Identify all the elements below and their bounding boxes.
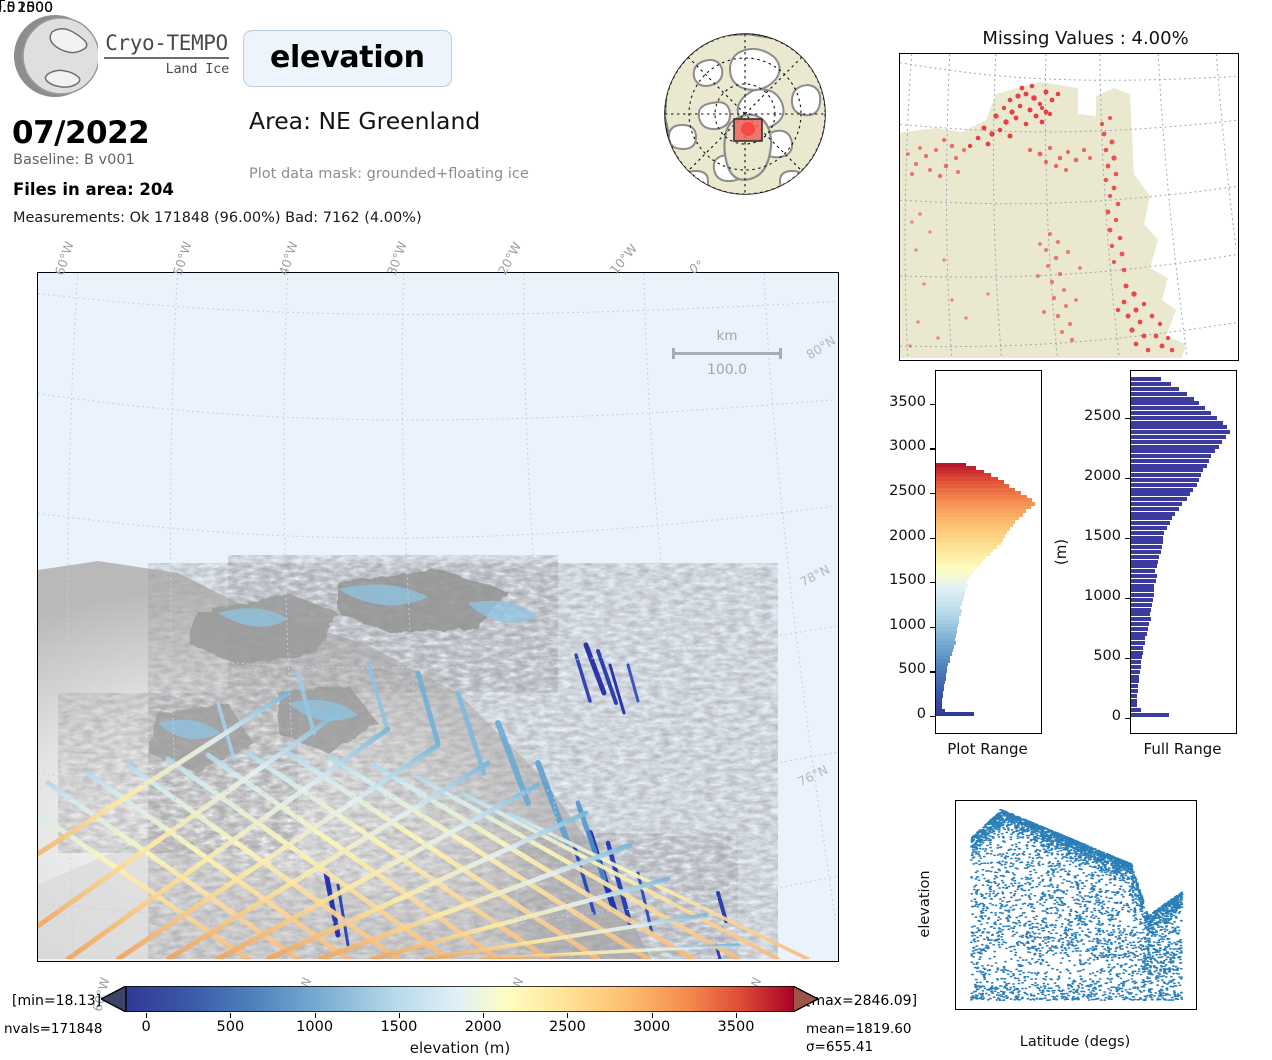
histogram-ytick [1125, 658, 1130, 659]
histogram-bar [1131, 512, 1175, 516]
histogram-bar [936, 555, 986, 559]
scatter-xtick-label: 82.5 [0, 0, 16, 16]
histogram-bar [936, 609, 962, 613]
histogram-bar [1131, 675, 1139, 679]
histogram-bar [936, 495, 1027, 499]
colorbar-tick-marks: 0500100015002000250030003500 [125, 1013, 795, 1033]
colorbar-mean-label: mean=1819.60 [806, 1021, 911, 1037]
histogram-bar [1131, 646, 1143, 650]
histogram-bar [1131, 545, 1162, 549]
brand-wordmark: Cryo-TEMPO Land Ice [104, 32, 229, 77]
histogram-bar [1131, 699, 1137, 703]
histogram-bar [1131, 445, 1219, 449]
histogram-bar [936, 595, 964, 599]
histogram-bar [1131, 473, 1201, 477]
histogram-bar [1131, 612, 1150, 616]
histogram-bar [1131, 468, 1203, 472]
histogram-bar [1131, 421, 1223, 425]
histogram-bar [936, 637, 955, 641]
histogram-ytick-label: 2000 [1060, 468, 1121, 484]
files-in-area-label: Files in area: 204 [13, 180, 174, 199]
colorbar-tick-label: 2000 [465, 1019, 502, 1035]
colorbar-tick [146, 1013, 147, 1018]
histogram-bar [936, 684, 944, 688]
histogram-bar [936, 694, 943, 698]
histogram-bar [1131, 694, 1137, 698]
histogram-bar [1131, 502, 1182, 506]
elevation-colorbar[interactable]: [min=18.13] [max=2846.09] nvals=171848 m… [0, 983, 920, 1060]
histogram-bar [1131, 670, 1140, 674]
baseline-label: Baseline: B v001 [13, 152, 135, 168]
histogram-ytick [1125, 538, 1130, 539]
histogram-ytick [930, 582, 935, 583]
colorbar-tick [652, 1013, 653, 1018]
colorbar-min-arrow [101, 986, 127, 1016]
histogram-bar [936, 620, 959, 624]
full-range-histogram-panel: Full Range (m) 05001000150020002500 [1060, 368, 1255, 768]
colorbar-tick [230, 1013, 231, 1018]
brand-logo-block: Cryo-TEMPO Land Ice [12, 8, 227, 104]
histogram-bar [1131, 655, 1142, 659]
histogram-bar [936, 591, 965, 595]
histogram-bar [936, 702, 942, 706]
histogram-bar [936, 559, 983, 563]
histogram-bar [1131, 593, 1154, 597]
histogram-bar [1131, 617, 1151, 621]
histogram-ytick-label: 1000 [880, 617, 926, 633]
histogram-ytick-label: 500 [880, 661, 926, 677]
histogram-ytick [1125, 418, 1130, 419]
histogram-ytick [1125, 718, 1130, 719]
histogram-bar [1131, 555, 1159, 559]
histogram-bar [1131, 401, 1199, 405]
histogram-bar [1131, 608, 1151, 612]
histogram-bar [1131, 435, 1226, 439]
histogram-bar [936, 473, 991, 477]
colorbar-tick-label: 3000 [633, 1019, 670, 1035]
histogram-bar [936, 566, 977, 570]
histogram-bar [936, 623, 958, 627]
histogram-bar [936, 516, 1019, 520]
colorbar-tick [315, 1013, 316, 1018]
histogram-ytick [930, 671, 935, 672]
histogram-bar [936, 612, 961, 616]
histogram-bar [936, 602, 962, 606]
histogram-bar [936, 616, 959, 620]
histogram-bar [936, 520, 1015, 524]
colorbar-tick-label: 2500 [549, 1019, 586, 1035]
colorbar-axis-label: elevation (m) [125, 1039, 795, 1057]
histogram-bar [936, 480, 1004, 484]
histogram-bar [936, 538, 1003, 542]
histogram-bar [936, 659, 950, 663]
histogram-bar [1131, 449, 1215, 453]
histogram-bar [936, 545, 997, 549]
histogram-bar [936, 484, 1009, 488]
histogram-bar [936, 598, 963, 602]
histogram-bar [936, 477, 998, 481]
histogram-bar [936, 634, 956, 638]
histogram-ytick-label: 1500 [880, 572, 926, 588]
histogram-ytick [1125, 478, 1130, 479]
histogram-bar [1131, 684, 1138, 688]
colorbar-tick-label: 1500 [380, 1019, 417, 1035]
histogram-bar [1131, 584, 1154, 588]
histogram-ytick-label: 2500 [880, 483, 926, 499]
histogram-bar [936, 505, 1031, 509]
histogram-bar [936, 627, 957, 631]
histogram-bar [1131, 627, 1148, 631]
histogram-bar [1131, 651, 1143, 655]
histogram-bar [936, 498, 1032, 502]
histogram-bar [1131, 516, 1172, 520]
histogram-bar [1131, 488, 1193, 492]
cryo-tempo-globe-icon [12, 12, 98, 100]
histogram-ytick [930, 538, 935, 539]
histogram-bar [936, 698, 942, 702]
histogram-ytick-label: 2000 [880, 528, 926, 544]
colorbar-tick [567, 1013, 568, 1018]
histogram-bar [1131, 387, 1179, 391]
colorbar-tick-label: 0 [141, 1019, 150, 1035]
histogram-bar [1131, 416, 1217, 420]
histogram-bar [936, 541, 1001, 545]
brand-name: Cryo-TEMPO [104, 32, 229, 54]
histogram-bar [1131, 507, 1179, 511]
histogram-bar [936, 502, 1035, 506]
histogram-ytick-label: 3000 [880, 438, 926, 454]
histogram-bar [1131, 411, 1211, 415]
colorbar-max-arrow [793, 986, 819, 1016]
histogram-bar [1131, 464, 1207, 468]
scalebar-rule [672, 348, 782, 358]
scalebar-value-label: 100.0 [672, 362, 782, 378]
histogram-bar [936, 580, 967, 584]
plot-range-histogram-panel: Plot Range 0500100015002000250030003500 [880, 368, 1060, 768]
histogram-ytick [930, 404, 935, 405]
histogram-bar [936, 587, 966, 591]
histogram-ytick [930, 448, 935, 449]
brand-subtitle: Land Ice [104, 61, 229, 77]
histogram-bar [1131, 665, 1141, 669]
histogram-bar [1131, 526, 1167, 530]
brand-divider [104, 57, 229, 59]
histogram-bar [1131, 560, 1158, 564]
full-range-caption: Full Range [1115, 740, 1250, 758]
histogram-bar [936, 680, 945, 684]
measurements-label: Measurements: Ok 171848 (96.00%) Bad: 71… [13, 210, 422, 226]
arctic-locator-map [652, 25, 838, 207]
histogram-bar [936, 552, 991, 556]
histogram-bar [936, 470, 984, 474]
scatter-canvas [956, 801, 1196, 1009]
histogram-bar [1131, 377, 1161, 381]
histogram-bar [1131, 636, 1145, 640]
histogram-bar [936, 677, 946, 681]
histogram-ytick [1125, 598, 1130, 599]
histogram-bar [936, 509, 1026, 513]
histogram-bar [1131, 679, 1139, 683]
histogram-bar [936, 513, 1023, 517]
histogram-bar [936, 669, 947, 673]
histogram-bar [936, 712, 974, 716]
histogram-bar [936, 466, 976, 470]
histogram-bar [1131, 579, 1156, 583]
histogram-bar [1131, 425, 1227, 429]
histogram-bar [936, 530, 1007, 534]
histogram-bar [1131, 598, 1153, 602]
histogram-bar [1131, 459, 1209, 463]
histogram-bar [936, 687, 944, 691]
histogram-bar [936, 641, 956, 645]
histogram-bar [1131, 603, 1152, 607]
histogram-bar [1131, 454, 1211, 458]
histogram-bar [1131, 406, 1205, 410]
histogram-bar [936, 605, 960, 609]
histogram-bar [1131, 574, 1157, 578]
colorbar-tick-label: 1000 [296, 1019, 333, 1035]
histogram-bar [1131, 703, 1137, 707]
colorbar-nvals-label: nvals=171848 [4, 1021, 102, 1037]
histogram-ytick-label: 1000 [1060, 588, 1121, 604]
date-label: 07/2022 [12, 115, 149, 151]
histogram-bar [936, 570, 974, 574]
colorbar-tick [399, 1013, 400, 1018]
histogram-bar [936, 705, 942, 709]
histogram-bar [1131, 588, 1154, 592]
histogram-bar [1131, 689, 1138, 693]
histogram-bar [936, 709, 945, 713]
colorbar-sigma-label: σ=655.41 [806, 1039, 873, 1055]
histogram-bar [1131, 492, 1190, 496]
colorbar-tick-label: 500 [217, 1019, 245, 1035]
histogram-bar [1131, 397, 1194, 401]
variable-title-badge: elevation [243, 30, 452, 87]
histogram-bar [936, 652, 952, 656]
map-scalebar: km 100.0 [672, 328, 782, 378]
histogram-bar [1131, 713, 1169, 717]
histogram-bar [936, 655, 950, 659]
colorbar-tick-label: 3500 [718, 1019, 755, 1035]
histogram-bar [1131, 540, 1163, 544]
histogram-bar [1131, 641, 1145, 645]
missing-values-map [899, 53, 1239, 361]
histogram-bar [1131, 497, 1187, 501]
variable-title-text: elevation [270, 40, 425, 75]
scalebar-unit-label: km [672, 328, 782, 344]
scatter-ylabel: elevation [917, 834, 933, 974]
histogram-bar [1131, 478, 1199, 482]
histogram-bar [936, 666, 947, 670]
histogram-bar [936, 523, 1013, 527]
histogram-bar [1131, 536, 1163, 540]
histogram-bar [936, 584, 968, 588]
histogram-ytick-label: 0 [880, 706, 926, 722]
histogram-bar [1131, 622, 1149, 626]
histogram-bar [1131, 430, 1230, 434]
histogram-bar [936, 645, 954, 649]
histogram-ytick-label: 0 [1060, 708, 1121, 724]
scatter-xlabel: Latitude (degs) [955, 1034, 1195, 1050]
colorbar-tick [736, 1013, 737, 1018]
histogram-ytick-label: 500 [1060, 648, 1121, 664]
histogram-bar [936, 577, 969, 581]
histogram-bar [1131, 521, 1170, 525]
plot-data-mask-label: Plot data mask: grounded+floating ice [249, 166, 529, 182]
histogram-bar [1131, 483, 1197, 487]
histogram-bar [1131, 382, 1171, 386]
histogram-bar [1131, 660, 1141, 664]
histogram-bar [936, 527, 1010, 531]
plot-range-histogram-plot[interactable] [935, 370, 1042, 734]
histogram-ytick-label: 1500 [1060, 528, 1121, 544]
colorbar-min-label: [min=18.13] [12, 993, 101, 1009]
histogram-ytick-label: 3500 [880, 394, 926, 410]
histogram-bar [936, 648, 953, 652]
histogram-bar [1131, 632, 1147, 636]
histogram-ytick [930, 493, 935, 494]
histogram-bar [936, 491, 1021, 495]
area-label: Area: NE Greenland [249, 107, 480, 135]
histogram-bar [936, 673, 946, 677]
histogram-bar [936, 548, 993, 552]
histogram-bar [1131, 550, 1161, 554]
histogram-bar [1131, 392, 1187, 396]
histogram-bar [1131, 531, 1164, 535]
histogram-ytick [930, 627, 935, 628]
colorbar-gradient [125, 986, 795, 1012]
histogram-bar [936, 534, 1005, 538]
histogram-bar [1131, 440, 1222, 444]
missing-values-title: Missing Values : 4.00% [899, 28, 1272, 49]
histogram-ytick [930, 716, 935, 717]
colorbar-max-label: [max=2846.09] [806, 993, 917, 1009]
full-range-histogram-plot[interactable] [1130, 370, 1237, 734]
histogram-bar [1131, 708, 1141, 712]
colorbar-tick [483, 1013, 484, 1018]
histogram-bar [936, 463, 966, 467]
elevation-vs-latitude-plot[interactable] [955, 800, 1197, 1010]
histogram-bar [936, 488, 1015, 492]
histogram-ytick-label: 2500 [1060, 408, 1121, 424]
histogram-bar [936, 630, 957, 634]
histogram-bar [936, 662, 948, 666]
plot-range-caption: Plot Range [920, 740, 1055, 758]
histogram-bar [1131, 569, 1155, 573]
histogram-bar [936, 562, 980, 566]
histogram-bar [1131, 564, 1157, 568]
histogram-bar [936, 573, 972, 577]
histogram-bar [936, 691, 943, 695]
